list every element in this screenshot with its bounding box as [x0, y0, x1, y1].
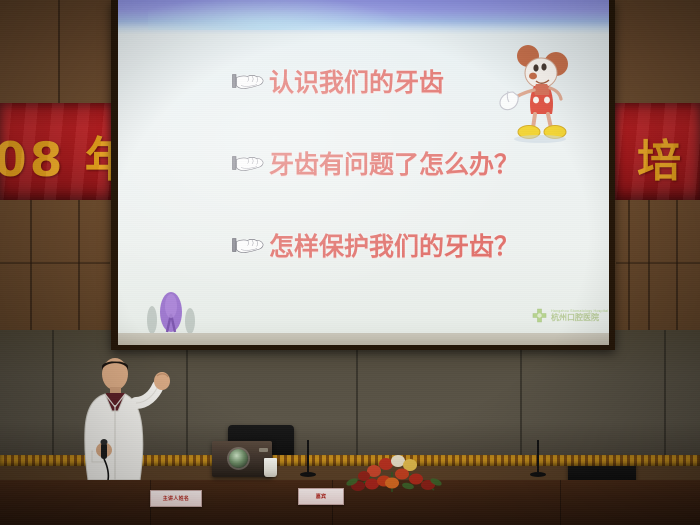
slide-bullet-text: 认识我们的牙齿: [269, 70, 444, 95]
name-placard-right-text: 嘉宾: [316, 493, 327, 500]
projection-screen: 认识我们的牙齿 牙齿有问题了怎么办？: [118, 0, 609, 345]
pointing-hand-icon: [232, 235, 264, 257]
lecture-hall-photo: 08 年 培: [0, 0, 700, 525]
wall-seam: [78, 200, 80, 330]
name-placard-left: 主讲人姓名: [150, 490, 202, 507]
presentation-slide: 认识我们的牙齿 牙齿有问题了怎么办？: [118, 0, 609, 345]
microphone-stand-right: [537, 440, 539, 474]
slide-bullet-text: 牙齿有问题了怎么办？: [269, 152, 519, 177]
wall-seam: [0, 262, 110, 264]
red-banner-right: 培: [613, 103, 700, 200]
wall-seam: [58, 0, 60, 103]
projector-equipment: [212, 441, 272, 477]
wall-seam: [616, 262, 700, 264]
red-banner-left: 08 年: [0, 103, 115, 200]
equipment-buttons: [259, 448, 268, 452]
microphone-base: [300, 472, 316, 477]
purple-tulip-graphic: [140, 284, 202, 336]
mickey-mouse-cartoon: [496, 40, 576, 145]
wall-seam: [628, 200, 630, 330]
pointing-hand-icon: [232, 153, 264, 175]
banner-text-right: 培: [637, 125, 684, 189]
green-cross-icon: [531, 308, 548, 325]
slide-bottom-band: [118, 333, 609, 345]
name-placard-left-text: 主讲人姓名: [163, 495, 190, 502]
microphone-stand-left: [307, 440, 309, 474]
paper-cup: [264, 458, 277, 477]
wall-seam: [676, 200, 678, 330]
presenter-in-lab-coat: [78, 355, 178, 480]
pointing-hand-icon: [232, 71, 264, 93]
banner-text-left: 08 年: [0, 121, 115, 190]
microphone-base: [530, 472, 546, 477]
wall-seam: [648, 200, 650, 330]
wall-seam: [30, 200, 32, 330]
slide-cloud-graphic: [148, 0, 408, 30]
slide-bullet-3: 怎样保护我们的牙齿？: [232, 230, 562, 262]
flower-bouquet: [338, 452, 446, 492]
hospital-logo: Hangzhou Stomatology Hospital 杭州口腔医院: [531, 301, 603, 331]
hospital-logo-chinese: 杭州口腔医院: [551, 314, 608, 322]
slide-bullet-text: 怎样保护我们的牙齿？: [269, 234, 519, 259]
projector-lens-icon: [229, 449, 248, 468]
slide-bullet-2: 牙齿有问题了怎么办？: [232, 148, 562, 180]
